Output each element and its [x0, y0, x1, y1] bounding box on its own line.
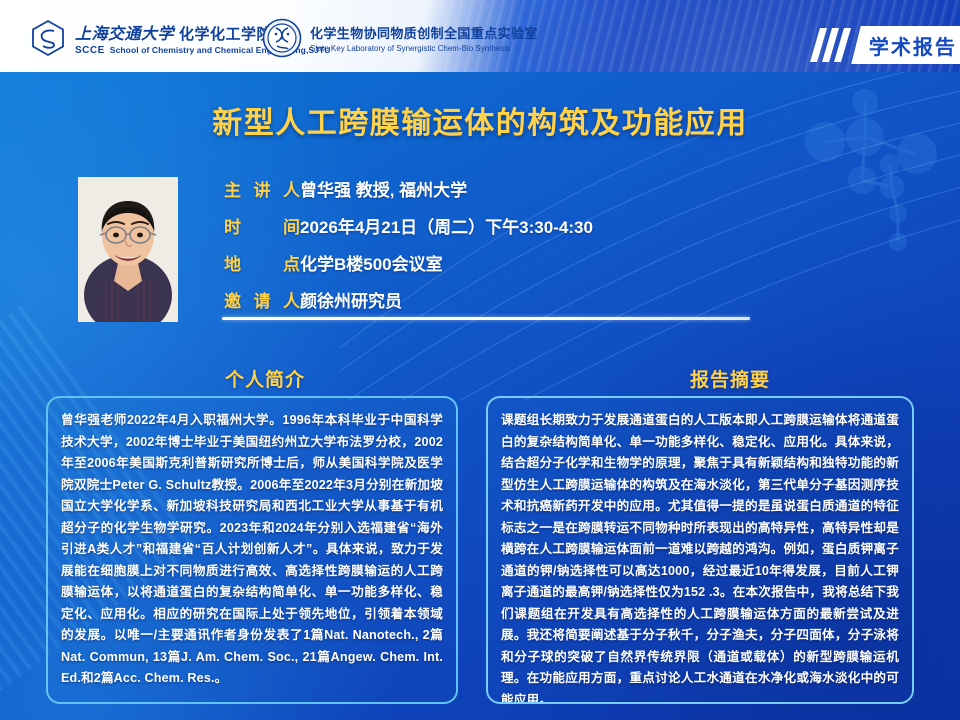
abstract-section-heading: 报告摘要 [690, 365, 770, 392]
speaker-photo [78, 177, 178, 322]
triple-slash-icon [810, 28, 854, 62]
info-label-host: 邀请人 [224, 287, 300, 312]
poster-header: 上海交通大学 化学化工学院 SCCE School of Chemistry a… [0, 0, 960, 72]
info-label-speaker: 主讲人 [224, 176, 300, 201]
scce-abbr: SCCE [75, 45, 105, 56]
biography-text: 曾华强老师2022年4月入职福州大学。1996年本科毕业于中国科学技术大学，20… [61, 410, 443, 690]
info-label-location: 地点 [224, 250, 300, 275]
info-value-host: 颜徐州研究员 [300, 287, 402, 312]
info-value-location: 化学B楼500会议室 [300, 250, 443, 275]
info-row-location: 地点 化学B楼500会议室 [224, 250, 784, 275]
info-row-speaker: 主讲人 曾华强 教授, 福州大学 [224, 176, 784, 201]
state-key-lab-logo: 化学生物协同物质创制全国重点实验室 State Key Laboratory o… [262, 18, 538, 58]
biography-panel: 曾华强老师2022年4月入职福州大学。1996年本科毕业于中国科学技术大学，20… [46, 396, 458, 704]
academic-report-badge-label: 学术报告 [869, 31, 957, 60]
section-divider [222, 317, 750, 320]
info-value-speaker: 曾华强 教授, 福州大学 [300, 176, 467, 201]
seminar-info-block: 主讲人 曾华强 教授, 福州大学 时间 2026年4月21日（周二）下午3:30… [224, 176, 784, 324]
abstract-text: 课题组长期致力于发展通道蛋白的人工版本即人工跨膜运输体将通道蛋白的复杂结构简单化… [501, 410, 899, 704]
sjtu-name-cn: 上海交通大学 [75, 20, 174, 44]
lab-seal-dna-icon [262, 18, 302, 58]
scce-name-cn: 化学化工学院 [179, 23, 272, 44]
info-row-host: 邀请人 颜徐州研究员 [224, 287, 784, 312]
info-row-time: 时间 2026年4月21日（周二）下午3:30-4:30 [224, 213, 784, 238]
seminar-poster: 上海交通大学 化学化工学院 SCCE School of Chemistry a… [0, 0, 960, 720]
academic-report-badge: 学术报告 [851, 26, 960, 64]
sjtu-hexagon-logo-icon [28, 18, 68, 58]
bio-section-heading: 个人简介 [225, 365, 305, 392]
lab-name-en: State Key Laboratory of Synergistic Chem… [310, 44, 538, 53]
info-label-time: 时间 [224, 213, 300, 238]
lab-name-cn: 化学生物协同物质创制全国重点实验室 [310, 23, 538, 42]
poster-title: 新型人工跨膜输运体的构筑及功能应用 [0, 98, 960, 142]
abstract-panel: 课题组长期致力于发展通道蛋白的人工版本即人工跨膜运输体将通道蛋白的复杂结构简单化… [486, 396, 914, 704]
info-value-time: 2026年4月21日（周二）下午3:30-4:30 [300, 213, 593, 238]
